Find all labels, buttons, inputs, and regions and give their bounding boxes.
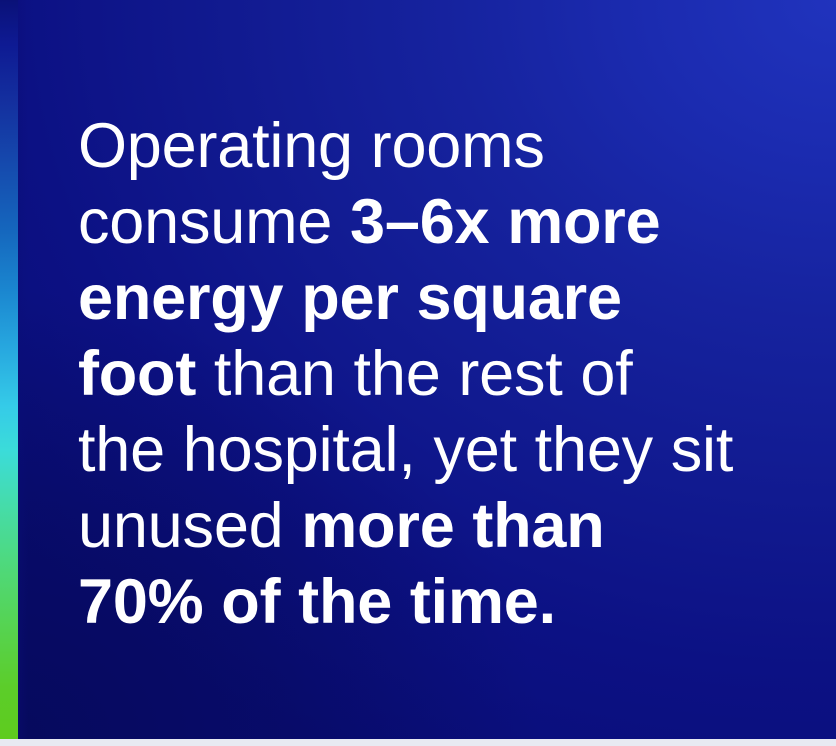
- quote-line-5: the hospital, yet they sit: [78, 412, 758, 488]
- quote-segment: consume: [78, 187, 350, 257]
- quote-line-7: 70% of the time.: [78, 564, 758, 640]
- left-gradient-accent-bar: [0, 0, 18, 739]
- quote-segment: than the rest of: [196, 339, 632, 409]
- quote-text-block: Operating rooms consume 3–6x more energy…: [78, 108, 758, 640]
- quote-segment-emphasis: 3–6x more: [350, 187, 660, 257]
- quote-segment: unused: [78, 491, 301, 561]
- quote-line-1: Operating rooms: [78, 108, 758, 184]
- quote-line-3: energy per square: [78, 260, 758, 336]
- quote-line-4: foot than the rest of: [78, 336, 758, 412]
- quote-segment: the hospital, yet they sit: [78, 415, 733, 485]
- quote-segment: Operating rooms: [78, 111, 545, 181]
- quote-line-6: unused more than: [78, 488, 758, 564]
- quote-segment-emphasis: energy per square: [78, 263, 622, 333]
- quote-line-2: consume 3–6x more: [78, 184, 758, 260]
- quote-segment-emphasis: 70% of the time.: [78, 567, 556, 637]
- quote-segment-emphasis: foot: [78, 339, 196, 409]
- statistic-quote-card: Operating rooms consume 3–6x more energy…: [0, 0, 836, 746]
- quote-segment-emphasis: more than: [301, 491, 604, 561]
- bottom-edge-strip: [0, 739, 836, 746]
